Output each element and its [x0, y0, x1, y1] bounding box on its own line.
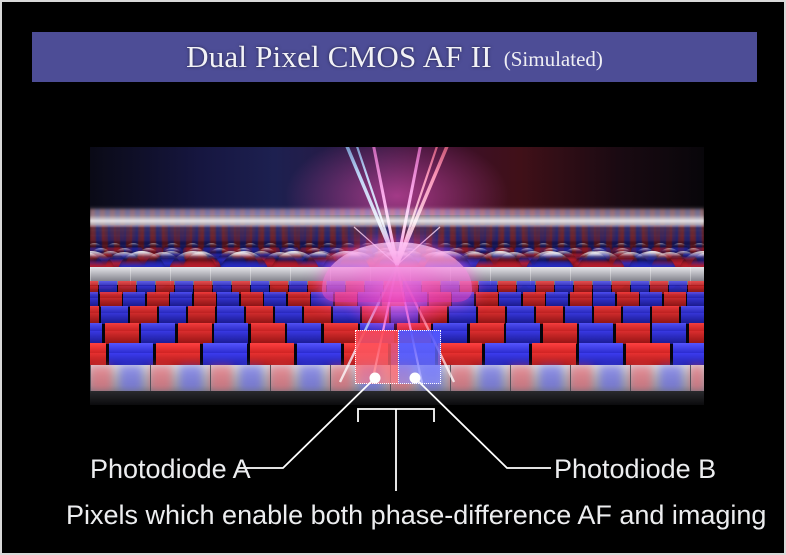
- dual-pixel-divider: [398, 330, 399, 384]
- bottom-caption: Pixels which enable both phase-differenc…: [66, 500, 766, 531]
- page-subtitle: (Simulated): [504, 47, 603, 72]
- screenshot-frame: Dual Pixel CMOS AF II (Simulated): [0, 0, 786, 555]
- dual-pixel-highlight[interactable]: [355, 330, 441, 384]
- page-title: Dual Pixel CMOS AF II: [186, 39, 492, 75]
- label-photodiode-a: Photodiode A: [90, 454, 251, 485]
- pixel-bracket: [358, 409, 434, 422]
- sensor-diagram: [90, 147, 704, 405]
- label-photodiode-b: Photodiode B: [554, 454, 716, 485]
- title-banner: Dual Pixel CMOS AF II (Simulated): [32, 32, 757, 82]
